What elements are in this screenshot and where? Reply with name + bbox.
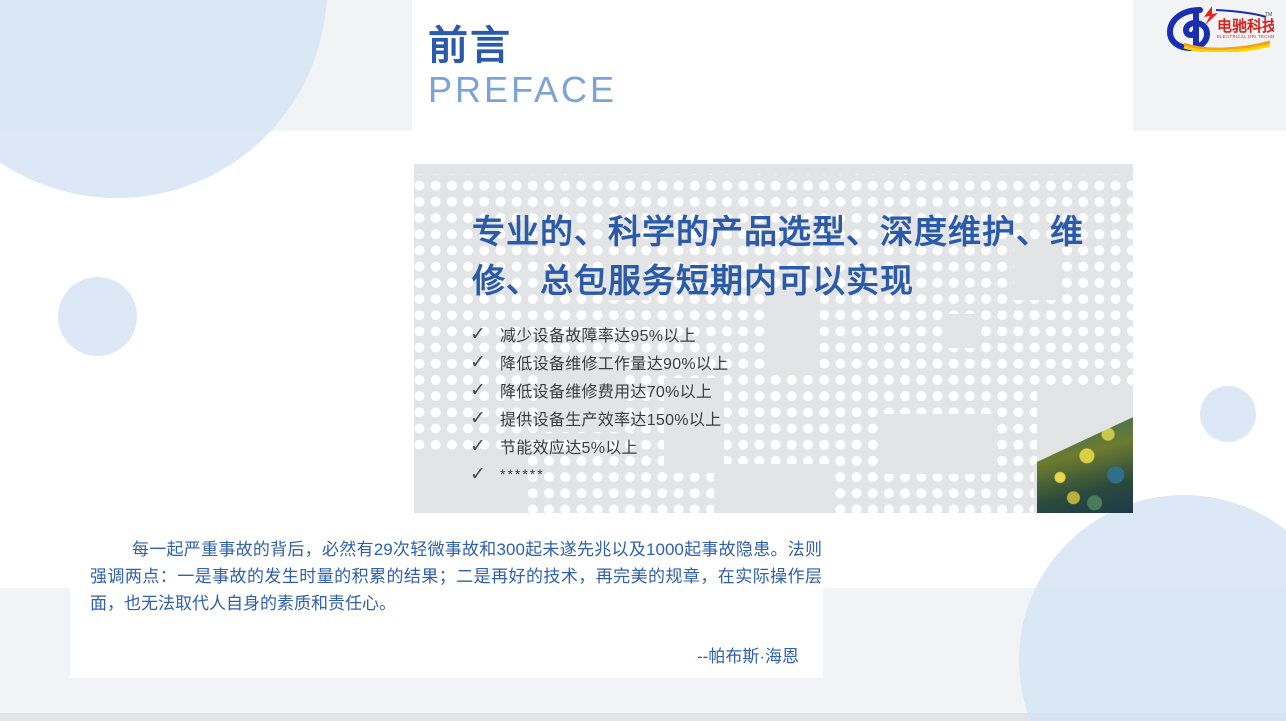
check-icon: ✓	[470, 465, 500, 484]
list-item: ✓ 提供设备生产效率达150%以上	[470, 404, 1030, 432]
decorative-circle-bottom-right	[1019, 495, 1286, 721]
map-void	[414, 164, 1133, 174]
logo-trademark: TM	[1265, 12, 1272, 18]
quote-author: --帕布斯·海恩	[697, 642, 799, 667]
page-title-en: PREFACE	[428, 72, 617, 108]
benefits-list: ✓ 减少设备故障率达95%以上 ✓ 降低设备维修工作量达90%以上 ✓ 降低设备…	[470, 320, 1030, 488]
check-icon: ✓	[470, 409, 500, 428]
list-item: ✓ 降低设备维修费用达70%以上	[470, 376, 1030, 404]
list-item: ✓ ******	[470, 460, 1030, 488]
forest-photo-corner	[1037, 386, 1133, 513]
list-item-label: 提供设备生产效率达150%以上	[500, 406, 721, 430]
header-panel	[412, 0, 1133, 131]
logo-brand-cn: 电驰科技	[1217, 17, 1274, 35]
list-item-label: 节能效应达5%以上	[500, 434, 638, 458]
list-item-label: 降低设备维修费用达70%以上	[500, 378, 712, 402]
logo-mark-icon: 电驰科技 ELECTRICAL DRI TECHNOLOGY TM	[1166, 4, 1274, 52]
check-icon: ✓	[470, 353, 500, 372]
list-item: ✓ 降低设备维修工作量达90%以上	[470, 348, 1030, 376]
logo-brand-en: ELECTRICAL DRI TECHNOLOGY	[1217, 34, 1274, 39]
headline-text: 专业的、科学的产品选型、深度维护、维修、总包服务短期内可以实现	[472, 207, 1144, 305]
check-icon: ✓	[470, 437, 500, 456]
page-title-cn: 前言	[428, 26, 512, 66]
quote-text: 每一起严重事故的背后，必然有29次轻微事故和300起未遂先兆以及1000起事故隐…	[90, 536, 822, 617]
list-item-label: ******	[500, 466, 545, 482]
slide-canvas: 前言 PREFACE 电驰科技 ELECTRICAL DRI TECHNOLOG…	[0, 0, 1286, 721]
check-icon: ✓	[470, 325, 500, 344]
list-item-label: 降低设备维修工作量达90%以上	[500, 350, 729, 374]
decorative-circle-top-left	[0, 0, 327, 198]
company-logo: 电驰科技 ELECTRICAL DRI TECHNOLOGY TM	[1166, 4, 1274, 52]
check-icon: ✓	[470, 381, 500, 400]
list-item: ✓ 减少设备故障率达95%以上	[470, 320, 1030, 348]
list-item: ✓ 节能效应达5%以上	[470, 432, 1030, 460]
decorative-circle-left-small	[58, 277, 137, 356]
decorative-circle-right-small	[1200, 386, 1256, 442]
list-item-label: 减少设备故障率达95%以上	[500, 322, 696, 346]
quote-card: 每一起严重事故的背后，必然有29次轻微事故和300起未遂先兆以及1000起事故隐…	[70, 524, 823, 678]
